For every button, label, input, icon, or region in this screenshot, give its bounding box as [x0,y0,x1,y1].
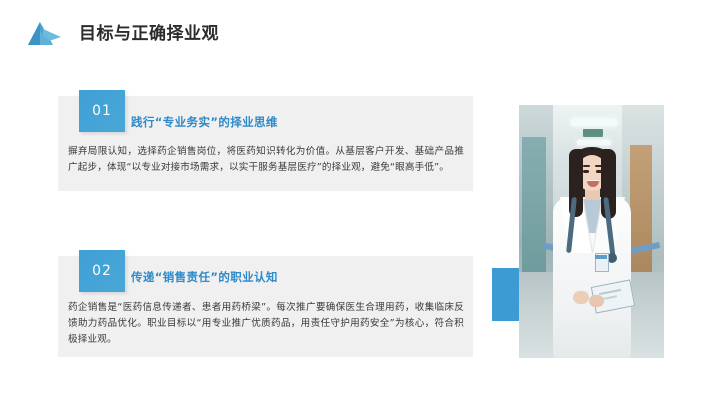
corridor-wood-door [630,145,652,285]
page-title: 目标与正确择业观 [79,22,219,46]
doctor-hand-right [589,295,604,307]
ceiling-light-far-icon [577,140,611,145]
corridor-teal-door [522,137,546,287]
doctor-eye-left [583,170,589,173]
doctor-hand-left [573,291,589,304]
triangle-arrow-logo-icon [27,19,65,57]
exit-sign-icon [583,129,603,137]
ceiling-light-icon [571,119,617,126]
blue-accent-square [492,268,520,321]
card-title-02: 传递“销售责任”的职业认知 [131,269,278,285]
slide-canvas: 目标与正确择业观 01 践行“专业务实”的择业思维 摒弃局限认知，选择药企销售岗… [0,0,720,405]
card-body-01: 摒弃局限认知，选择药企销售岗位，将医药知识转化为价值。从基层客户开发、基础产品推… [68,144,464,176]
card-number-badge-01: 01 [79,90,125,132]
doctor-id-badge-strip [595,255,607,259]
doctor-photo [519,105,664,358]
card-number-badge-02: 02 [79,250,125,292]
card-title-01: 践行“专业务实”的择业思维 [131,114,278,130]
doctor-eyebrow-left [583,165,590,167]
slide-header: 目标与正确择业观 [0,0,720,62]
card-body-02: 药企销售是“医药信息传递者、患者用药桥梁”。每次推广要确保医生合理用药，收集临床… [68,300,464,348]
